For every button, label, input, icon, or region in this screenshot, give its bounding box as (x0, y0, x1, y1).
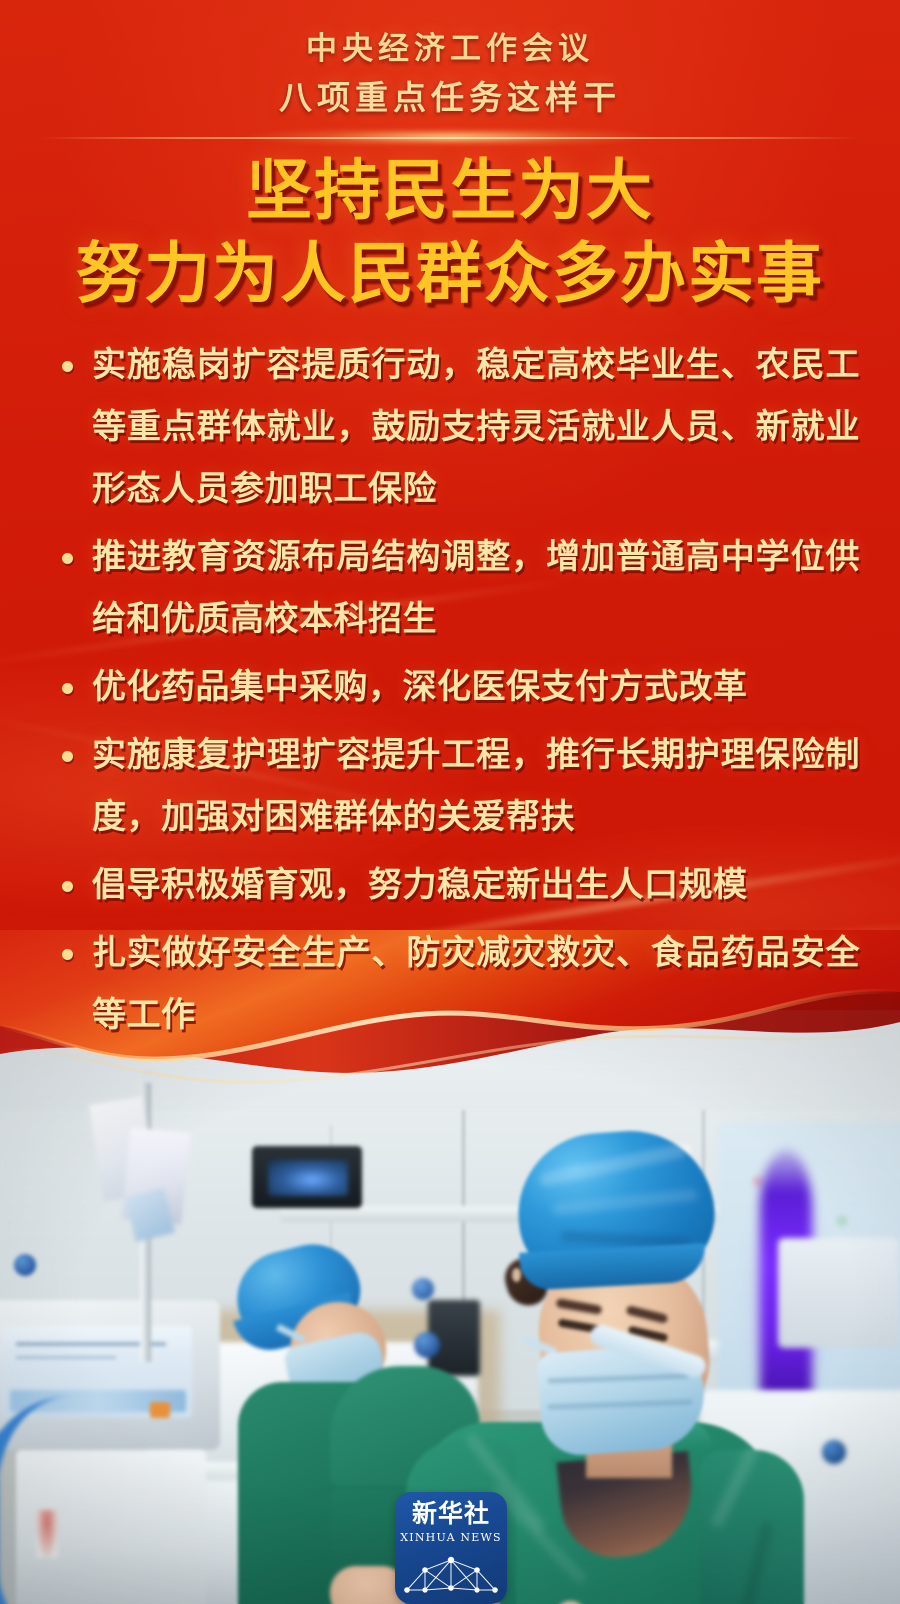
poster-header: 中央经济工作会议 八项重点任务这样干 (0, 0, 900, 150)
header-line-1: 中央经济工作会议 (0, 0, 900, 65)
xinhua-logo: 新华社 XINHUA NEWS (395, 1492, 507, 1604)
bullet-dot-icon (62, 683, 73, 694)
poster-root: 中央经济工作会议 八项重点任务这样干 坚持民生为大 努力为人民群众多办实事 实施… (0, 0, 900, 1604)
list-item: 实施康复护理扩容提升工程，推行长期护理保险制度，加强对困难群体的关爱帮扶 (62, 724, 860, 848)
logo-chinese-text: 新华社 (395, 1501, 507, 1526)
list-item-text: 推进教育资源布局结构调整，增加普通高中学位供给和优质高校本科招生 (92, 526, 860, 650)
bullet-dot-icon (62, 553, 73, 564)
bullet-dot-icon (62, 361, 73, 372)
list-item: 优化药品集中采购，深化医保支付方式改革 (62, 656, 860, 718)
task-list: 实施稳岗扩容提质行动，稳定高校毕业生、农民工等重点群体就业，鼓励支持灵活就业人员… (62, 334, 860, 1052)
title-line-2: 努力为人民群众多办实事 (0, 232, 900, 316)
header-divider (40, 137, 860, 139)
list-item-text: 实施稳岗扩容提质行动，稳定高校毕业生、农民工等重点群体就业，鼓励支持灵活就业人员… (92, 334, 860, 520)
bullet-dot-icon (62, 751, 73, 762)
list-item-text: 倡导积极婚育观，努力稳定新出生人口规模 (92, 854, 860, 916)
list-item-text: 扎实做好安全生产、防灾减灾救灾、食品药品安全等工作 (92, 922, 860, 1046)
bullet-dot-icon (62, 881, 73, 892)
list-item: 推进教育资源布局结构调整，增加普通高中学位供给和优质高校本科招生 (62, 526, 860, 650)
title-line-1: 坚持民生为大 (0, 150, 900, 232)
logo-english-text: XINHUA NEWS (395, 1532, 507, 1543)
header-line-2: 八项重点任务这样干 (0, 65, 900, 114)
network-graphic-icon (395, 1544, 507, 1604)
list-item-text: 实施康复护理扩容提升工程，推行长期护理保险制度，加强对困难群体的关爱帮扶 (92, 724, 860, 848)
list-item: 实施稳岗扩容提质行动，稳定高校毕业生、农民工等重点群体就业，鼓励支持灵活就业人员… (62, 334, 860, 520)
list-item: 倡导积极婚育观，努力稳定新出生人口规模 (62, 854, 860, 916)
list-item: 扎实做好安全生产、防灾减灾救灾、食品药品安全等工作 (62, 922, 860, 1046)
page-title: 坚持民生为大 努力为人民群众多办实事 (0, 150, 900, 316)
list-item-text: 优化药品集中采购，深化医保支付方式改革 (92, 656, 860, 718)
bullet-dot-icon (62, 949, 73, 960)
